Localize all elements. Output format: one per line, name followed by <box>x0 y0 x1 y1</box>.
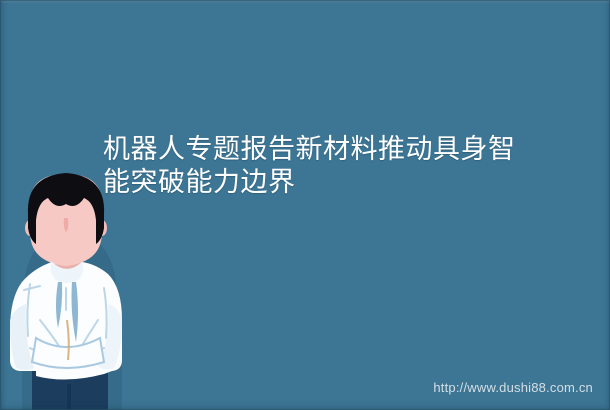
page-title: 机器人专题报告新材料推动具身智 能突破能力边界 <box>103 133 583 199</box>
watermark-url: http://www.dushi88.com.cn <box>433 380 593 395</box>
hoodie <box>10 262 122 380</box>
top-highlight-band <box>0 0 610 4</box>
person-illustration-svg <box>0 170 128 410</box>
person-illustration <box>0 170 128 410</box>
title-line-2: 能突破能力边界 <box>103 166 583 199</box>
poster-root: 机器人专题报告新材料推动具身智 能突破能力边界 http://www.dushi… <box>0 0 610 410</box>
title-line-1: 机器人专题报告新材料推动具身智 <box>103 133 583 166</box>
